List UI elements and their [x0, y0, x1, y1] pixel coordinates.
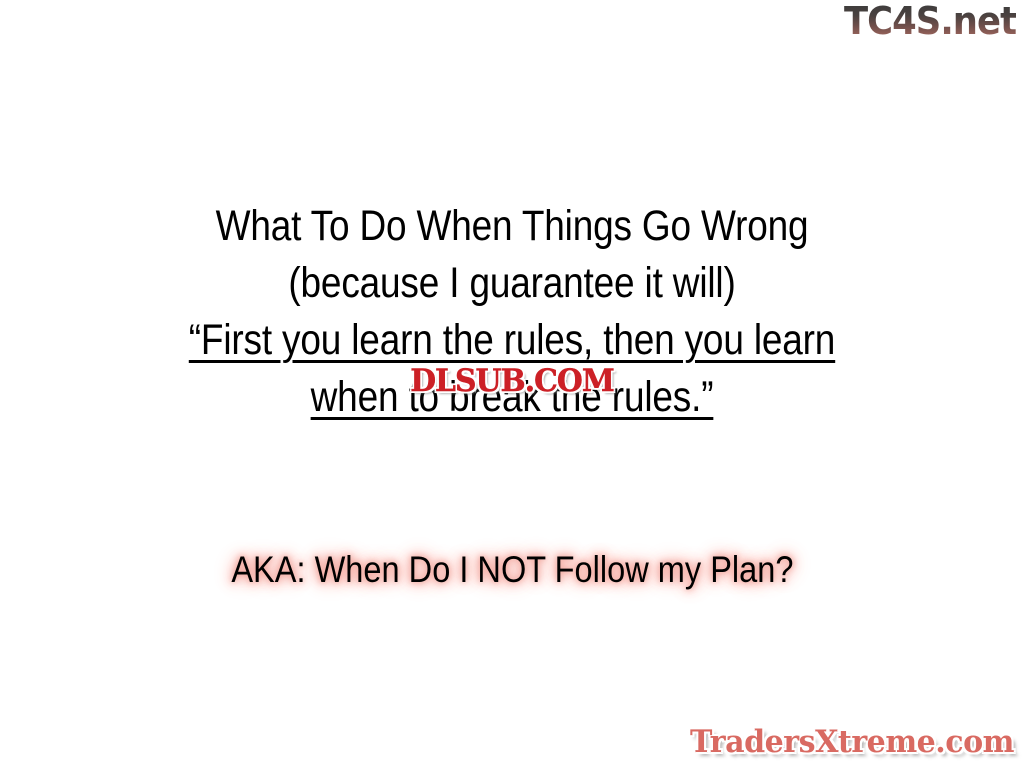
dlsub-watermark: DLSUB.COM — [410, 366, 614, 397]
quote-line-1: “First you learn the rules, then you lea… — [72, 312, 953, 369]
heading-line-1: What To Do When Things Go Wrong — [72, 198, 953, 255]
tradersxtreme-logo: TradersXtreme.com — [690, 727, 1014, 758]
subtitle-text: AKA: When Do I NOT Follow my Plan? — [231, 546, 793, 594]
tc4s-logo: TC4S.net — [844, 2, 1016, 40]
presentation-slide: TC4S.net What To Do When Things Go Wrong… — [0, 0, 1024, 768]
heading-line-2: (because I guarantee it will) — [72, 255, 953, 312]
subtitle-row: AKA: When Do I NOT Follow my Plan? — [0, 546, 1024, 594]
